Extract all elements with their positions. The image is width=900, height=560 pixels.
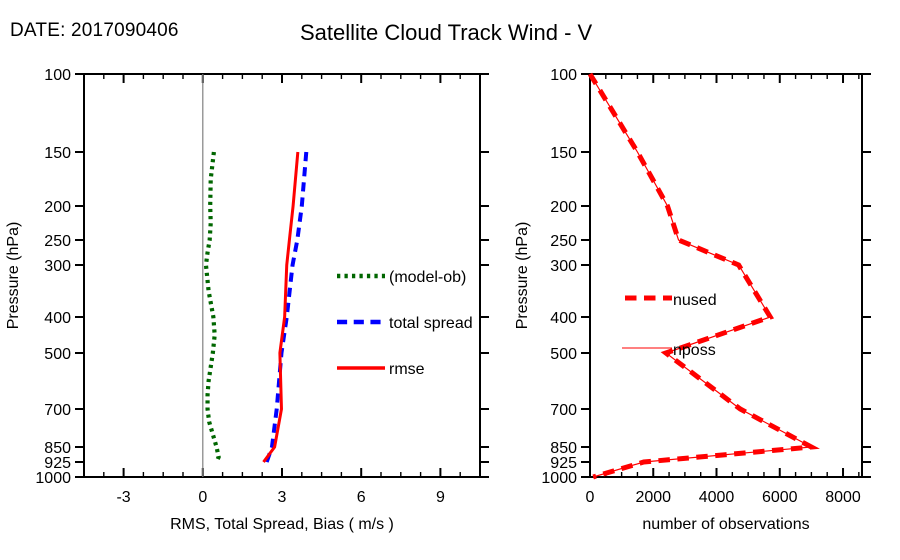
x-tick-label: 8000	[825, 489, 861, 506]
x-tick-label: 6000	[762, 489, 798, 506]
x-tick-label: 3	[278, 489, 287, 506]
x-tick-label: 4000	[699, 489, 735, 506]
y-tick-label: 150	[44, 145, 71, 162]
y-tick-label: 100	[44, 67, 71, 84]
legend-label-totalspread: total spread	[389, 315, 473, 332]
x-tick-label: 0	[586, 489, 595, 506]
series-line-modelob	[206, 152, 219, 462]
x-axis-title: RMS, Total Spread, Bias ( m/s )	[170, 516, 394, 533]
x-axis-title: number of observations	[642, 516, 809, 533]
x-tick-label: 9	[436, 489, 445, 506]
left-chart: 1001502002503004005007008509251000-30369…	[5, 67, 489, 533]
y-tick-label: 400	[550, 310, 577, 327]
legend-label-nposs: nposs	[673, 342, 716, 359]
x-tick-label: 2000	[635, 489, 671, 506]
y-tick-label: 200	[550, 199, 577, 216]
y-tick-label: 700	[44, 402, 71, 419]
y-tick-label: 250	[550, 233, 577, 250]
y-tick-label: 300	[44, 258, 71, 275]
left-chart-legend: (model-ob)total spreadrmse	[337, 269, 473, 378]
y-axis-title: Pressure (hPa)	[514, 222, 531, 330]
right-chart-legend: nusednposs	[622, 292, 717, 359]
chart-canvas: 1001502002503004005007008509251000-30369…	[0, 0, 900, 560]
legend-label-nused: nused	[673, 292, 717, 309]
y-tick-label: 300	[550, 258, 577, 275]
series-line-rmse	[264, 152, 298, 462]
chart-page: DATE: 2017090406 Satellite Cloud Track W…	[0, 0, 900, 560]
y-tick-label: 700	[550, 402, 577, 419]
y-axis-title: Pressure (hPa)	[5, 222, 22, 330]
y-tick-label: 150	[550, 145, 577, 162]
page-title: Satellite Cloud Track Wind - V	[300, 20, 592, 46]
series-line-nposs	[590, 74, 811, 477]
y-tick-label: 400	[44, 310, 71, 327]
x-tick-label: 0	[198, 489, 207, 506]
series-line-nused	[590, 74, 811, 477]
y-tick-label: 100	[550, 67, 577, 84]
date-label: DATE: 2017090406	[10, 20, 179, 42]
x-tick-label: -3	[116, 489, 130, 506]
y-tick-label: 500	[550, 346, 577, 363]
legend-label-modelob: (model-ob)	[389, 269, 466, 286]
y-tick-label: 1000	[541, 470, 577, 487]
legend-label-rmse: rmse	[389, 361, 425, 378]
y-tick-label: 200	[44, 199, 71, 216]
y-tick-label: 500	[44, 346, 71, 363]
y-tick-label: 1000	[35, 470, 71, 487]
y-tick-label: 250	[44, 233, 71, 250]
x-tick-label: 6	[357, 489, 366, 506]
